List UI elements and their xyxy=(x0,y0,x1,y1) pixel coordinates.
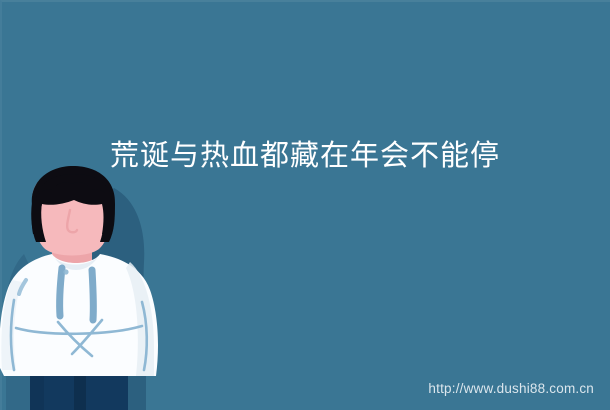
watermark-url: http://www.dushi88.com.cn xyxy=(428,381,594,396)
thumbnail-card: 荒诞与热血都藏在年会不能停 http://www.dushi88.com.cn xyxy=(0,0,610,410)
hoodie-shape xyxy=(0,254,158,376)
page-title: 荒诞与热血都藏在年会不能停 xyxy=(0,136,610,176)
person-illustration xyxy=(0,170,186,410)
